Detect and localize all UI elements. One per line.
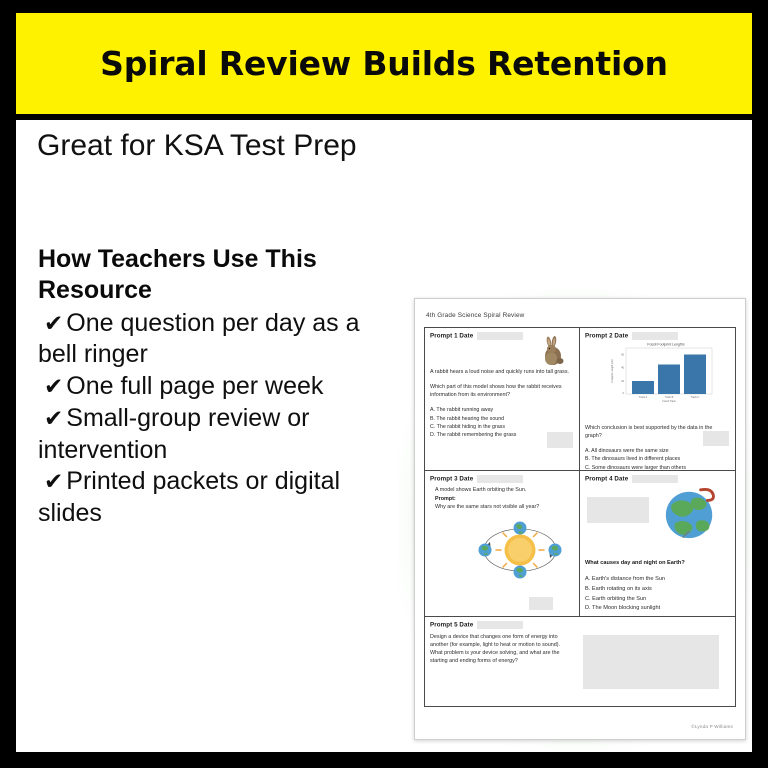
prompt-4-choice: A. Earth's distance from the Sun [585,575,730,585]
earth-orbit-diagram [475,519,565,581]
fossil-footprint-bar-chart: Fossil Footprint Lengths 0 20 40 60 Foot… [602,340,718,406]
prompt-3-cell: Prompt 3 Date A model shows Earth orbiti… [425,471,580,617]
prompt-3-question: Why are the same stars not visible all y… [430,503,574,511]
list-item: ✔One full page per week [38,371,378,403]
prompt-5-question: What problem is your device solving, and… [430,649,572,665]
prompt-1-choice: C. The rabbit hiding in the grass [430,423,574,431]
prompt-2-choice: B. The dinosaurs lived in different plac… [585,455,730,463]
answer-blank[interactable] [587,497,649,523]
worksheet-row: Prompt 5 Date Design a device that chang… [425,617,735,708]
prompt-4-label: Prompt 4 Date [585,475,730,483]
prompt-4-question: What causes day and night on Earth? [585,559,730,567]
prompt-4-choice: D. The Moon blocking sunlight [585,604,730,614]
answer-blank[interactable] [583,635,719,689]
prompt-2-label: Prompt 2 Date [585,332,730,340]
prompt-2-choice: A. All dinosaurs were the same size [585,447,730,455]
x-tick: Track B [665,396,674,399]
answer-blank[interactable] [529,597,553,610]
subheading: Great for KSA Test Prep [37,129,357,163]
check-icon: ✔ [38,311,66,337]
date-blank[interactable] [477,332,523,340]
prompt-5-label: Prompt 5 Date [430,621,730,629]
date-blank[interactable] [477,621,523,629]
check-icon: ✔ [38,469,66,495]
prompt-2-cell: Prompt 2 Date Fossil Footprint Lengths 0… [580,328,735,471]
list-item-label: One question per day as a bell ringer [38,309,360,369]
prompt-4-choice: C. Earth orbiting the Sun [585,595,730,605]
list-item-label: Small-group review or intervention [38,404,309,464]
date-blank[interactable] [477,475,523,483]
check-icon: ✔ [38,374,66,400]
worksheet-row: Prompt 1 Date [425,328,735,471]
prompt-1-question: Which part of this model shows how the r… [430,383,574,399]
worksheet-title: 4th Grade Science Spiral Review [426,312,524,319]
worksheet-grid: Prompt 1 Date [424,327,736,707]
date-blank[interactable] [632,475,678,483]
list-item-label: One full page per week [66,372,323,400]
x-axis-label: Fossil Track [662,400,676,403]
prompt-1-choice: B. The rabbit hearing the sound [430,415,574,423]
prompt-2-choice: C. Some dinosaurs were larger than other… [585,464,730,471]
list-item: ✔Small-group review or intervention [38,403,378,467]
check-icon: ✔ [38,406,66,432]
prompt-3-stem: A model shows Earth orbiting the Sun. [430,486,574,494]
prompt-1-choice: A. The rabbit running away [430,406,574,414]
prompt-5-stem: Design a device that changes one form of… [430,633,572,649]
usage-heading: How Teachers Use This Resource [38,244,378,307]
rabbit-icon [541,336,565,366]
list-item: ✔Printed packets or digital slides [38,466,378,530]
teacher-usage-list: How Teachers Use This Resource ✔One ques… [38,244,378,530]
answer-blank[interactable] [703,431,729,446]
page-title: Spiral Review Builds Retention [100,44,668,83]
prompt-5-cell: Prompt 5 Date Design a device that chang… [425,617,735,708]
chart-title: Fossil Footprint Lengths [647,343,685,347]
list-item: ✔One question per day as a bell ringer [38,308,378,372]
title-banner: Spiral Review Builds Retention [16,13,752,114]
prompt-3-prompt-word: Prompt: [430,495,574,503]
bar-track-b [658,365,680,395]
prompt-1-stem: A rabbit hears a loud noise and quickly … [430,368,574,376]
prompt-4-choice: B. Earth rotating on its axis [585,585,730,595]
slide-canvas: Spiral Review Builds Retention Great for… [0,0,768,768]
list-item-label: Printed packets or digital slides [38,467,340,527]
worksheet-row: Prompt 3 Date A model shows Earth orbiti… [425,471,735,617]
prompt-4-cell: Prompt 4 Date What causes d [580,471,735,617]
x-tick: Track A [639,396,648,399]
worksheet-footer: ©Lynda P Williams [691,724,733,729]
y-axis-label: Footprint Length (cm) [611,359,614,383]
bar-track-c [684,355,706,395]
body-panel: Great for KSA Test Prep How Teachers Use… [16,120,752,752]
prompt-3-label: Prompt 3 Date [430,475,574,483]
prompt-1-cell: Prompt 1 Date [425,328,580,471]
bar-track-a [632,381,654,394]
worksheet-preview[interactable]: 4th Grade Science Spiral Review Prompt 1… [414,298,746,740]
x-tick: Track C [691,396,700,399]
earth-rotation-icon [661,485,719,543]
answer-blank[interactable] [547,432,573,448]
date-blank[interactable] [632,332,678,340]
